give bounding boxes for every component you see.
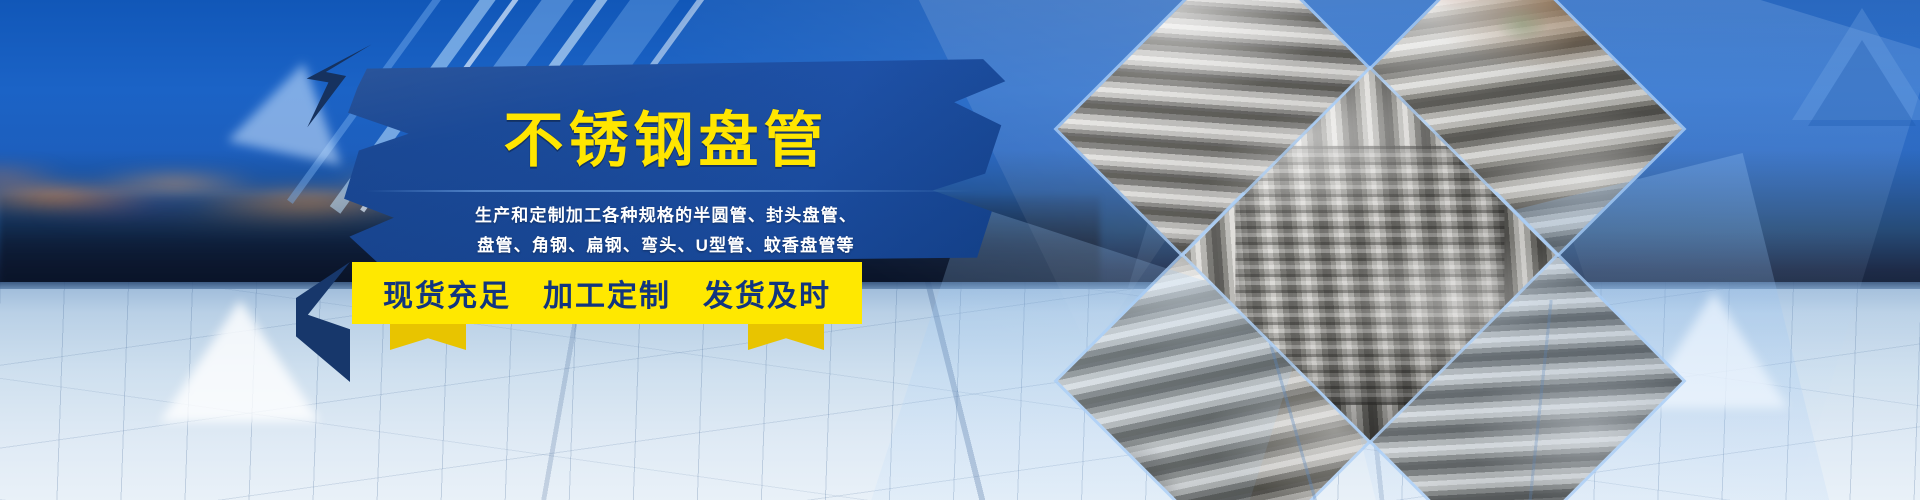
subtitle-line-1: 生产和定制加工各种规格的半圆管、封头盘管、 — [336, 201, 996, 226]
headline-divider — [366, 190, 976, 192]
feature-ribbon: 现货充足 加工定制 发货及时 — [352, 248, 912, 368]
page-title: 不锈钢盘管 — [336, 92, 996, 179]
ribbon-label: 现货充足 加工定制 发货及时 — [352, 262, 862, 324]
product-banner: 不锈钢盘管 生产和定制加工各种规格的半圆管、封头盘管、 盘管、角钢、扁钢、弯头、… — [0, 0, 1920, 500]
diamond-photo-collage — [1006, 0, 1730, 500]
triangle-outline-inner-icon — [1808, 40, 1916, 126]
